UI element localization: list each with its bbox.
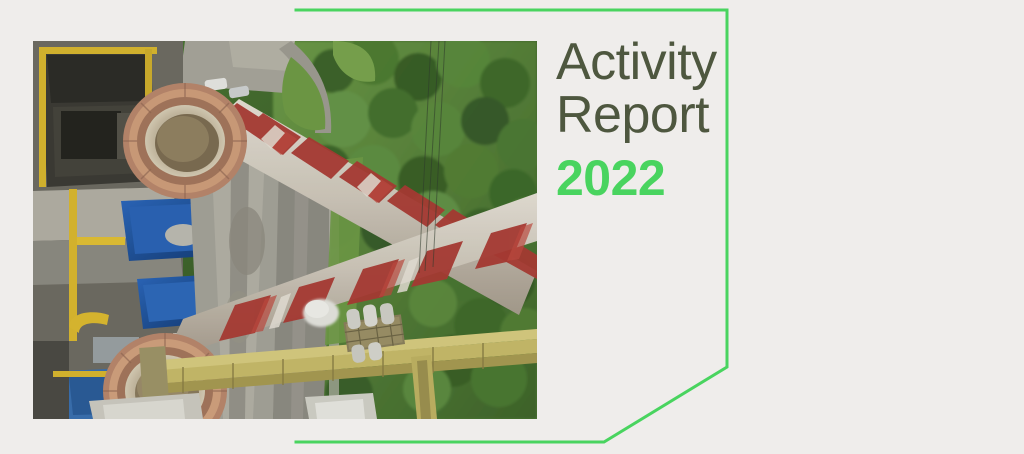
page-title-line-2: Report bbox=[556, 89, 726, 142]
page-title-line-1: Activity bbox=[556, 36, 726, 89]
report-year: 2022 bbox=[556, 150, 726, 206]
aerial-industrial-plant-photo bbox=[33, 41, 537, 419]
cover-photo bbox=[33, 41, 537, 419]
cover-title-block: Activity Report 2022 bbox=[556, 36, 726, 206]
report-cover-page: Activity Report 2022 bbox=[0, 0, 1024, 454]
